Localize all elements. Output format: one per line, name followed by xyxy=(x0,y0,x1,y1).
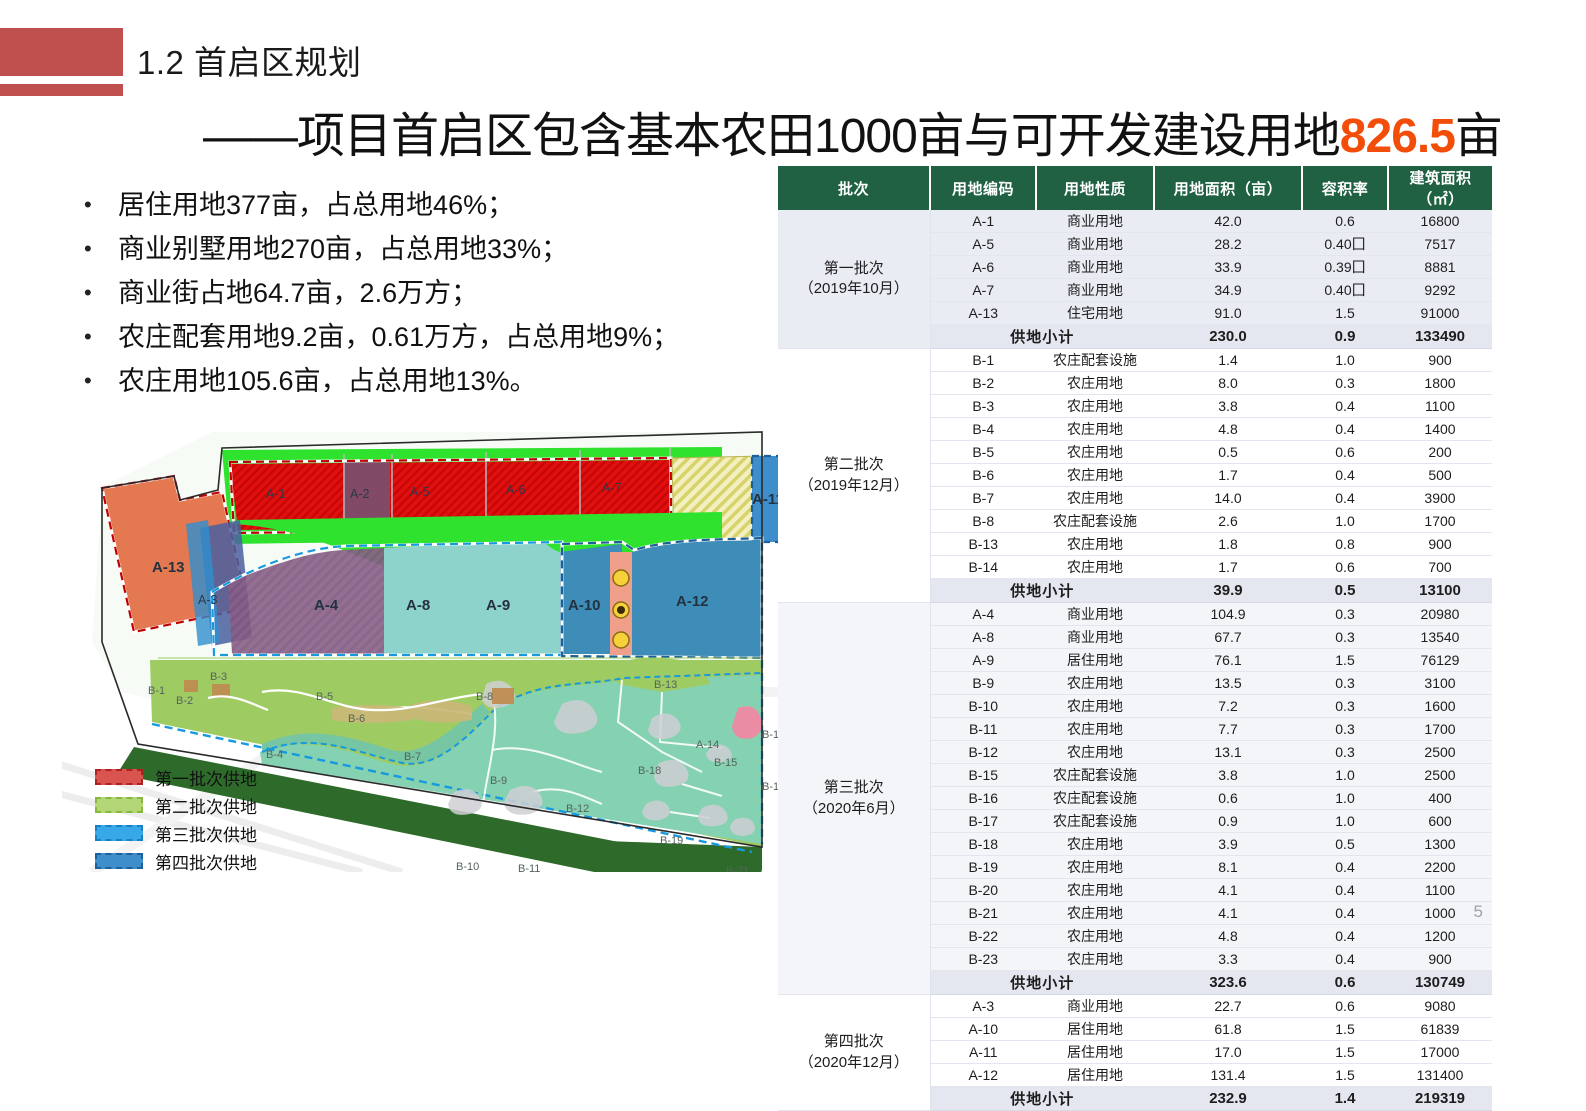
cell-use: 商业用地 xyxy=(1036,210,1154,233)
cell-far: 0.40囗 xyxy=(1302,279,1388,302)
cell-use: 居住用地 xyxy=(1036,1018,1154,1041)
cell-code: B-15 xyxy=(930,764,1036,787)
batch-date: （2020年12月） xyxy=(779,1053,929,1073)
cell-gfa: 1100 xyxy=(1388,395,1492,418)
map-label-B-4: B-4 xyxy=(266,749,283,761)
cell-gfa: 7517 xyxy=(1388,233,1492,256)
subtotal-area: 39.9 xyxy=(1154,579,1302,603)
cell-far: 0.6 xyxy=(1302,210,1388,233)
summary-bullet-list: •居住用地377亩，占总用地46%；•商业别墅用地270亩，占总用地33%；•商… xyxy=(80,188,770,408)
cell-code: A-13 xyxy=(930,302,1036,325)
legend-item: 第二批次供地 xyxy=(95,793,257,817)
map-label-A-6: A-6 xyxy=(506,483,526,497)
cell-code: B-10 xyxy=(930,695,1036,718)
cell-code: B-21 xyxy=(930,902,1036,925)
map-label-A-4: A-4 xyxy=(314,597,339,614)
cell-code: B-9 xyxy=(930,672,1036,695)
cell-far: 1.0 xyxy=(1302,349,1388,372)
cell-gfa: 16800 xyxy=(1388,210,1492,233)
legend-swatch xyxy=(95,825,143,841)
cell-code: A-9 xyxy=(930,649,1036,672)
cell-area: 7.2 xyxy=(1154,695,1302,718)
cell-far: 1.5 xyxy=(1302,1041,1388,1064)
cell-gfa: 1400 xyxy=(1388,418,1492,441)
title-suffix: 亩 xyxy=(1455,110,1502,163)
cell-use: 农庄配套设施 xyxy=(1036,349,1154,372)
cell-code: B-23 xyxy=(930,948,1036,971)
cell-code: B-22 xyxy=(930,925,1036,948)
legend-label: 第三批次供地 xyxy=(155,821,257,846)
subtotal-far: 0.5 xyxy=(1302,579,1388,603)
table-column-header: 用地面积（亩） xyxy=(1154,166,1302,210)
legend-swatch xyxy=(95,853,143,869)
cell-use: 农庄用地 xyxy=(1036,672,1154,695)
cell-far: 0.39囗 xyxy=(1302,256,1388,279)
cell-gfa: 131400 xyxy=(1388,1064,1492,1087)
cell-use: 农庄用地 xyxy=(1036,487,1154,510)
cell-far: 0.4 xyxy=(1302,395,1388,418)
batch-date: （2020年6月） xyxy=(779,799,929,819)
cell-far: 0.6 xyxy=(1302,556,1388,579)
table-row: 第一批次（2019年10月）A-1商业用地42.00.616800 xyxy=(778,210,1492,233)
bullet-item: •农庄配套用地9.2亩，0.61万方，占总用地9%； xyxy=(80,320,770,354)
cell-area: 3.9 xyxy=(1154,833,1302,856)
cell-code: B-2 xyxy=(930,372,1036,395)
cell-area: 76.1 xyxy=(1154,649,1302,672)
cell-area: 22.7 xyxy=(1154,995,1302,1018)
bullet-text: 商业别墅用地270亩，占总用地33%； xyxy=(118,232,568,266)
table-column-header: 建筑面积（㎡） xyxy=(1388,166,1492,210)
cell-use: 农庄用地 xyxy=(1036,533,1154,556)
cell-code: B-18 xyxy=(930,833,1036,856)
section-number: 1.2 首启区规划 xyxy=(137,36,362,84)
batch-name: 第二批次 xyxy=(779,455,929,475)
cell-area: 42.0 xyxy=(1154,210,1302,233)
cell-code: A-11 xyxy=(930,1041,1036,1064)
batch-name: 第一批次 xyxy=(779,259,929,279)
cell-area: 1.7 xyxy=(1154,464,1302,487)
map-label-A-7: A-7 xyxy=(602,481,622,495)
map-label-A-3: A-3 xyxy=(198,593,218,607)
cell-gfa: 1200 xyxy=(1388,925,1492,948)
cell-code: B-8 xyxy=(930,510,1036,533)
map-label-A-14: A-14 xyxy=(696,739,719,751)
cell-use: 商业用地 xyxy=(1036,233,1154,256)
subtotal-label: 供地小计 xyxy=(930,1087,1154,1111)
map-label-B-11: B-11 xyxy=(518,863,540,872)
cell-use: 农庄用地 xyxy=(1036,902,1154,925)
cell-gfa: 76129 xyxy=(1388,649,1492,672)
legend-label: 第一批次供地 xyxy=(155,765,257,790)
page-title: ——项目首启区包含基本农田1000亩与可开发建设用地826.5亩 xyxy=(203,96,1502,166)
batch-date: （2019年10月） xyxy=(779,279,929,299)
map-legend: 第一批次供地第二批次供地第三批次供地第四批次供地 xyxy=(95,765,257,877)
subtotal-area: 323.6 xyxy=(1154,971,1302,995)
cell-use: 居住用地 xyxy=(1036,649,1154,672)
cell-far: 0.4 xyxy=(1302,925,1388,948)
cell-use: 农庄用地 xyxy=(1036,695,1154,718)
cell-gfa: 2200 xyxy=(1388,856,1492,879)
cell-area: 34.9 xyxy=(1154,279,1302,302)
cell-code: A-5 xyxy=(930,233,1036,256)
cell-code: A-10 xyxy=(930,1018,1036,1041)
cell-area: 91.0 xyxy=(1154,302,1302,325)
map-label-A-9: A-9 xyxy=(486,597,510,614)
cell-area: 1.7 xyxy=(1154,556,1302,579)
subtotal-gfa: 133490 xyxy=(1388,325,1492,349)
cell-use: 商业用地 xyxy=(1036,279,1154,302)
cell-gfa: 1800 xyxy=(1388,372,1492,395)
cell-far: 1.5 xyxy=(1302,1018,1388,1041)
cell-code: B-17 xyxy=(930,810,1036,833)
cell-use: 农庄配套设施 xyxy=(1036,787,1154,810)
cell-gfa: 61839 xyxy=(1388,1018,1492,1041)
cell-code: B-7 xyxy=(930,487,1036,510)
cell-area: 104.9 xyxy=(1154,603,1302,626)
cell-far: 0.3 xyxy=(1302,626,1388,649)
map-label-B-8: B-8 xyxy=(476,691,493,703)
cell-far: 0.4 xyxy=(1302,418,1388,441)
batch-name: 第四批次 xyxy=(779,1032,929,1052)
cell-far: 0.3 xyxy=(1302,372,1388,395)
cell-code: A-7 xyxy=(930,279,1036,302)
cell-gfa: 900 xyxy=(1388,533,1492,556)
table-header-row: 批次用地编码用地性质用地面积（亩）容积率建筑面积（㎡） xyxy=(778,166,1492,210)
cell-far: 0.4 xyxy=(1302,902,1388,925)
cell-area: 4.1 xyxy=(1154,902,1302,925)
cell-far: 0.6 xyxy=(1302,441,1388,464)
map-label-B-5: B-5 xyxy=(316,691,333,703)
cell-use: 农庄用地 xyxy=(1036,556,1154,579)
cell-gfa: 20980 xyxy=(1388,603,1492,626)
cell-use: 农庄用地 xyxy=(1036,441,1154,464)
cell-far: 1.5 xyxy=(1302,649,1388,672)
cell-area: 14.0 xyxy=(1154,487,1302,510)
cell-code: A-1 xyxy=(930,210,1036,233)
map-label-B-21: B-21 xyxy=(726,865,749,872)
table-row: 第四批次（2020年12月）A-3商业用地22.70.69080 xyxy=(778,995,1492,1018)
cell-far: 0.3 xyxy=(1302,741,1388,764)
cell-area: 33.9 xyxy=(1154,256,1302,279)
cell-gfa: 1100 xyxy=(1388,879,1492,902)
subtotal-far: 0.9 xyxy=(1302,325,1388,349)
legend-swatch xyxy=(95,769,143,785)
bullet-text: 农庄配套用地9.2亩，0.61万方，占总用地9%； xyxy=(118,320,679,354)
cell-area: 2.6 xyxy=(1154,510,1302,533)
table-column-header: 批次 xyxy=(778,166,930,210)
map-label-A-5: A-5 xyxy=(410,485,430,499)
map-label-B-12: B-12 xyxy=(566,803,589,815)
cell-far: 0.4 xyxy=(1302,487,1388,510)
map-label-A-1: A-1 xyxy=(266,487,286,501)
cell-far: 1.0 xyxy=(1302,810,1388,833)
table-column-header: 用地性质 xyxy=(1036,166,1154,210)
legend-item: 第四批次供地 xyxy=(95,849,257,873)
cell-area: 131.4 xyxy=(1154,1064,1302,1087)
cell-use: 居住用地 xyxy=(1036,1064,1154,1087)
subtotal-gfa: 13100 xyxy=(1388,579,1492,603)
cell-use: 农庄用地 xyxy=(1036,718,1154,741)
bullet-item: •商业街占地64.7亩，2.6万方； xyxy=(80,276,770,310)
cell-gfa: 1700 xyxy=(1388,718,1492,741)
cell-code: B-19 xyxy=(930,856,1036,879)
map-label-A-10: A-10 xyxy=(568,597,601,614)
cell-code: B-5 xyxy=(930,441,1036,464)
cell-area: 4.8 xyxy=(1154,418,1302,441)
cell-code: A-8 xyxy=(930,626,1036,649)
batch-cell: 第三批次（2020年6月） xyxy=(778,603,930,995)
batch-cell: 第一批次（2019年10月） xyxy=(778,210,930,349)
cell-far: 0.3 xyxy=(1302,718,1388,741)
cell-far: 0.40囗 xyxy=(1302,233,1388,256)
bullet-item: •居住用地377亩，占总用地46%； xyxy=(80,188,770,222)
cell-use: 农庄用地 xyxy=(1036,879,1154,902)
accent-bar-underline xyxy=(0,84,123,96)
cell-use: 农庄用地 xyxy=(1036,833,1154,856)
map-label-A-12: A-12 xyxy=(676,593,709,610)
cell-far: 0.4 xyxy=(1302,464,1388,487)
cell-far: 0.4 xyxy=(1302,948,1388,971)
page-number: 5 xyxy=(1474,902,1483,922)
cell-far: 0.3 xyxy=(1302,695,1388,718)
map-label-A-8: A-8 xyxy=(406,597,430,614)
cell-gfa: 91000 xyxy=(1388,302,1492,325)
map-label-B-9: B-9 xyxy=(490,775,507,787)
cell-use: 农庄用地 xyxy=(1036,741,1154,764)
cell-gfa: 500 xyxy=(1388,464,1492,487)
cell-code: B-1 xyxy=(930,349,1036,372)
map-label-B-19: B-19 xyxy=(660,835,683,847)
cell-gfa: 1600 xyxy=(1388,695,1492,718)
map-label-B-15: B-15 xyxy=(714,757,737,769)
cell-area: 13.5 xyxy=(1154,672,1302,695)
map-label-B-1: B-1 xyxy=(148,685,165,697)
cell-use: 农庄配套设施 xyxy=(1036,764,1154,787)
cell-area: 0.5 xyxy=(1154,441,1302,464)
map-label-B-10: B-10 xyxy=(456,861,479,872)
cell-area: 13.1 xyxy=(1154,741,1302,764)
cell-code: A-4 xyxy=(930,603,1036,626)
land-supply-table: 批次用地编码用地性质用地面积（亩）容积率建筑面积（㎡） 第一批次（2019年10… xyxy=(778,166,1492,1111)
cell-area: 0.6 xyxy=(1154,787,1302,810)
map-label-B-18: B-18 xyxy=(638,765,661,777)
subtotal-far: 0.6 xyxy=(1302,971,1388,995)
cell-gfa: 400 xyxy=(1388,787,1492,810)
map-label-B-3: B-3 xyxy=(210,671,227,683)
cell-code: A-3 xyxy=(930,995,1036,1018)
subtotal-area: 232.9 xyxy=(1154,1087,1302,1111)
cell-far: 0.5 xyxy=(1302,833,1388,856)
subtotal-label: 供地小计 xyxy=(930,325,1154,349)
legend-swatch xyxy=(95,797,143,813)
cell-use: 农庄配套设施 xyxy=(1036,510,1154,533)
cell-code: B-12 xyxy=(930,741,1036,764)
cell-use: 农庄用地 xyxy=(1036,372,1154,395)
cell-area: 3.8 xyxy=(1154,764,1302,787)
table-row: 第三批次（2020年6月）A-4商业用地104.90.320980 xyxy=(778,603,1492,626)
cell-gfa: 2500 xyxy=(1388,741,1492,764)
legend-label: 第四批次供地 xyxy=(155,849,257,874)
cell-area: 0.9 xyxy=(1154,810,1302,833)
batch-date: （2019年12月） xyxy=(779,476,929,496)
cell-use: 商业用地 xyxy=(1036,626,1154,649)
cell-code: A-6 xyxy=(930,256,1036,279)
cell-use: 农庄用地 xyxy=(1036,856,1154,879)
cell-gfa: 3100 xyxy=(1388,672,1492,695)
cell-far: 0.3 xyxy=(1302,672,1388,695)
accent-bar xyxy=(0,28,123,76)
land-supply-table-wrapper: 批次用地编码用地性质用地面积（亩）容积率建筑面积（㎡） 第一批次（2019年10… xyxy=(778,166,1492,1111)
cell-far: 1.0 xyxy=(1302,787,1388,810)
cell-gfa: 8881 xyxy=(1388,256,1492,279)
cell-code: B-16 xyxy=(930,787,1036,810)
cell-use: 商业用地 xyxy=(1036,603,1154,626)
table-row: 第二批次（2019年12月）B-1农庄配套设施1.41.0900 xyxy=(778,349,1492,372)
subtotal-label: 供地小计 xyxy=(930,971,1154,995)
batch-cell: 第四批次（2020年12月） xyxy=(778,995,930,1111)
cell-area: 67.7 xyxy=(1154,626,1302,649)
cell-gfa: 17000 xyxy=(1388,1041,1492,1064)
subtotal-gfa: 219319 xyxy=(1388,1087,1492,1111)
cell-use: 农庄用地 xyxy=(1036,464,1154,487)
cell-far: 0.8 xyxy=(1302,533,1388,556)
cell-gfa: 2500 xyxy=(1388,764,1492,787)
subtotal-label: 供地小计 xyxy=(930,579,1154,603)
bullet-marker-icon: • xyxy=(80,276,118,310)
batch-name: 第三批次 xyxy=(779,778,929,798)
cell-use: 农庄配套设施 xyxy=(1036,810,1154,833)
bullet-marker-icon: • xyxy=(80,320,118,354)
map-label-B-7: B-7 xyxy=(404,751,421,763)
cell-gfa: 3900 xyxy=(1388,487,1492,510)
bullet-item: •商业别墅用地270亩，占总用地33%； xyxy=(80,232,770,266)
map-label-B-13: B-13 xyxy=(654,679,677,691)
table-column-header: 容积率 xyxy=(1302,166,1388,210)
cell-gfa: 600 xyxy=(1388,810,1492,833)
cell-gfa: 9080 xyxy=(1388,995,1492,1018)
map-label-B-6: B-6 xyxy=(348,713,365,725)
cell-area: 17.0 xyxy=(1154,1041,1302,1064)
cell-gfa: 900 xyxy=(1388,948,1492,971)
cell-area: 8.0 xyxy=(1154,372,1302,395)
bullet-marker-icon: • xyxy=(80,188,118,222)
cell-far: 1.5 xyxy=(1302,1064,1388,1087)
legend-label: 第二批次供地 xyxy=(155,793,257,818)
cell-gfa: 13540 xyxy=(1388,626,1492,649)
bullet-text: 居住用地377亩，占总用地46%； xyxy=(118,188,514,222)
map-label-A-2: A-2 xyxy=(350,487,370,501)
cell-gfa: 900 xyxy=(1388,349,1492,372)
cell-use: 农庄用地 xyxy=(1036,948,1154,971)
cell-code: B-3 xyxy=(930,395,1036,418)
cell-area: 4.1 xyxy=(1154,879,1302,902)
cell-area: 3.8 xyxy=(1154,395,1302,418)
cell-gfa: 1300 xyxy=(1388,833,1492,856)
cell-area: 1.4 xyxy=(1154,349,1302,372)
title-highlight: 826.5 xyxy=(1340,110,1455,163)
cell-far: 0.4 xyxy=(1302,856,1388,879)
cell-far: 0.6 xyxy=(1302,995,1388,1018)
cell-use: 商业用地 xyxy=(1036,256,1154,279)
cell-code: B-20 xyxy=(930,879,1036,902)
cell-use: 住宅用地 xyxy=(1036,302,1154,325)
cell-area: 28.2 xyxy=(1154,233,1302,256)
cell-far: 0.4 xyxy=(1302,879,1388,902)
cell-area: 4.8 xyxy=(1154,925,1302,948)
subtotal-far: 1.4 xyxy=(1302,1087,1388,1111)
cell-far: 0.3 xyxy=(1302,603,1388,626)
cell-use: 居住用地 xyxy=(1036,1041,1154,1064)
cell-area: 3.3 xyxy=(1154,948,1302,971)
bullet-text: 商业街占地64.7亩，2.6万方； xyxy=(118,276,478,310)
cell-use: 商业用地 xyxy=(1036,995,1154,1018)
bullet-marker-icon: • xyxy=(80,232,118,266)
cell-far: 1.0 xyxy=(1302,764,1388,787)
cell-area: 1.8 xyxy=(1154,533,1302,556)
cell-area: 7.7 xyxy=(1154,718,1302,741)
map-label-A-13: A-13 xyxy=(152,559,185,576)
table-body: 第一批次（2019年10月）A-1商业用地42.00.616800A-5商业用地… xyxy=(778,210,1492,1111)
cell-gfa: 9292 xyxy=(1388,279,1492,302)
cell-far: 1.0 xyxy=(1302,510,1388,533)
cell-code: A-12 xyxy=(930,1064,1036,1087)
cell-use: 农庄用地 xyxy=(1036,418,1154,441)
cell-code: B-13 xyxy=(930,533,1036,556)
cell-code: B-4 xyxy=(930,418,1036,441)
subtotal-area: 230.0 xyxy=(1154,325,1302,349)
cell-gfa: 700 xyxy=(1388,556,1492,579)
cell-area: 8.1 xyxy=(1154,856,1302,879)
cell-area: 61.8 xyxy=(1154,1018,1302,1041)
cell-code: B-11 xyxy=(930,718,1036,741)
cell-use: 农庄用地 xyxy=(1036,925,1154,948)
cell-code: B-14 xyxy=(930,556,1036,579)
cell-use: 农庄用地 xyxy=(1036,395,1154,418)
subtotal-gfa: 130749 xyxy=(1388,971,1492,995)
table-column-header: 用地编码 xyxy=(930,166,1036,210)
map-label-B-2: B-2 xyxy=(176,695,193,707)
legend-item: 第一批次供地 xyxy=(95,765,257,789)
cell-gfa: 200 xyxy=(1388,441,1492,464)
cell-gfa: 1700 xyxy=(1388,510,1492,533)
legend-item: 第三批次供地 xyxy=(95,821,257,845)
title-prefix: ——项目首启区包含基本农田1000亩与可开发建设用地 xyxy=(203,110,1340,163)
batch-cell: 第二批次（2019年12月） xyxy=(778,349,930,603)
cell-code: B-6 xyxy=(930,464,1036,487)
cell-far: 1.5 xyxy=(1302,302,1388,325)
